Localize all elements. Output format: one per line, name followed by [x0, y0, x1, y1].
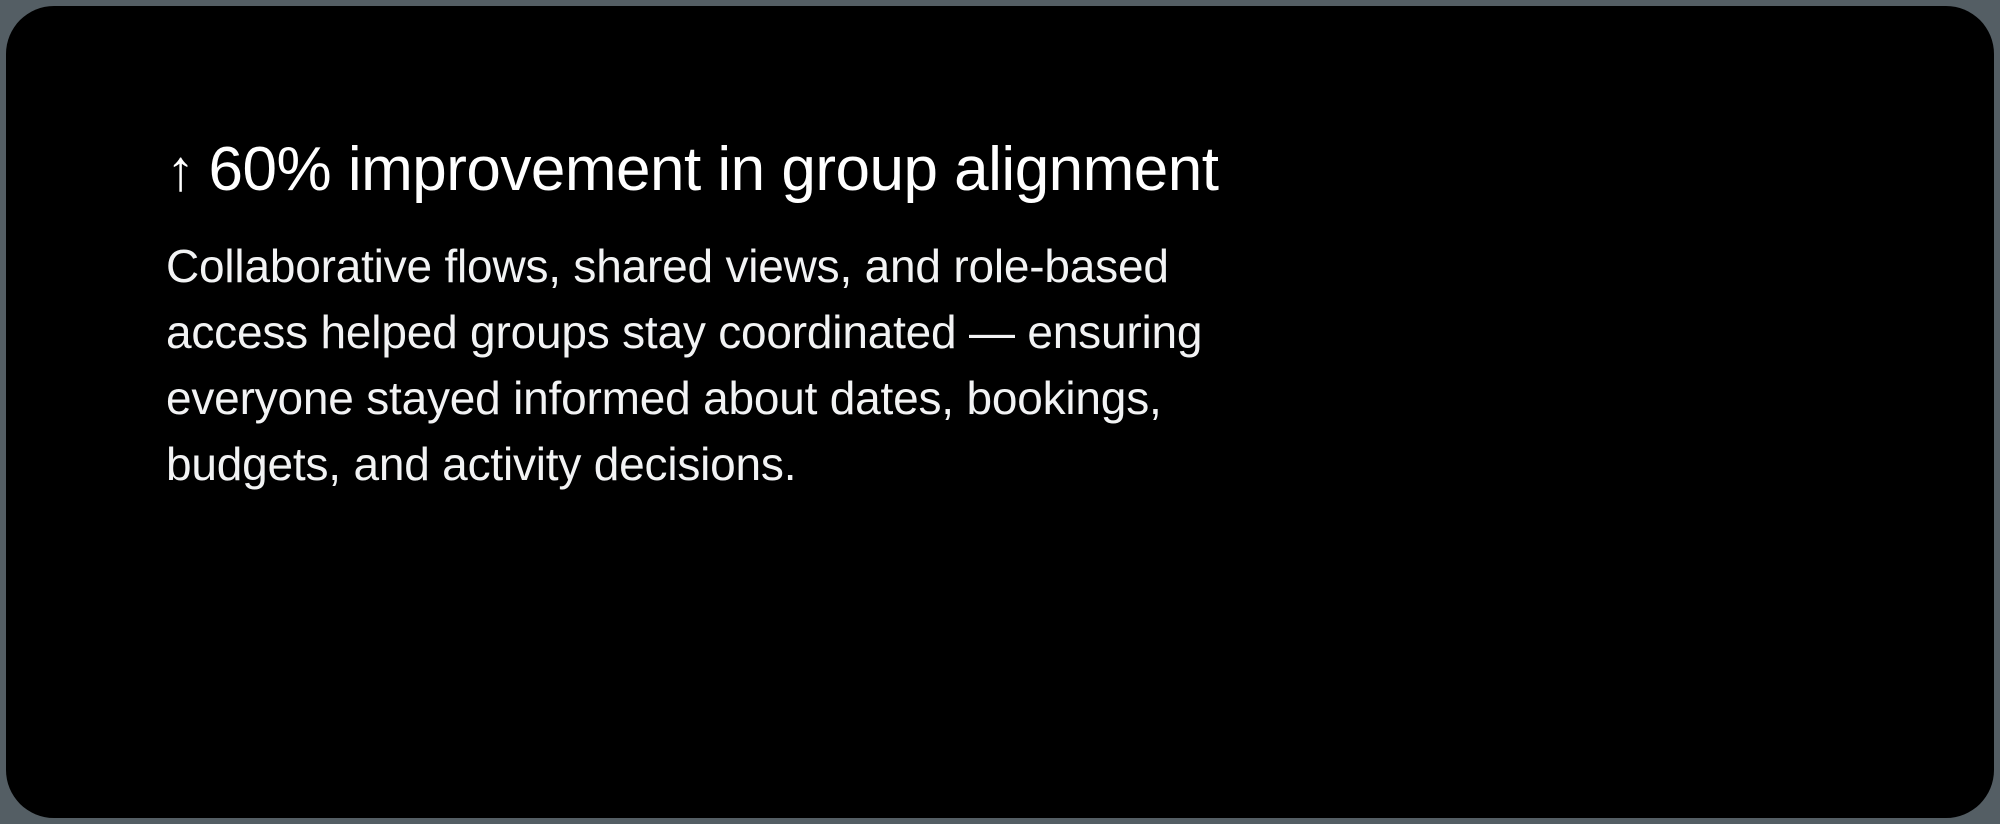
stat-description: Collaborative flows, shared views, and r…: [166, 233, 1376, 497]
description-line: access helped groups stay coordinated — …: [166, 299, 1376, 365]
arrow-up-icon: ↑: [166, 135, 195, 207]
screen-backdrop: ↑60% improvement in group alignment Coll…: [0, 0, 2000, 824]
heading-text: 60% improvement in group alignment: [209, 135, 1219, 204]
page-title: ↑60% improvement in group alignment: [166, 134, 1994, 207]
description-line: everyone stayed informed about dates, bo…: [166, 365, 1376, 431]
description-line: budgets, and activity decisions.: [166, 431, 1376, 497]
stat-highlight-card: ↑60% improvement in group alignment Coll…: [6, 6, 1994, 818]
description-line: Collaborative flows, shared views, and r…: [166, 233, 1376, 299]
